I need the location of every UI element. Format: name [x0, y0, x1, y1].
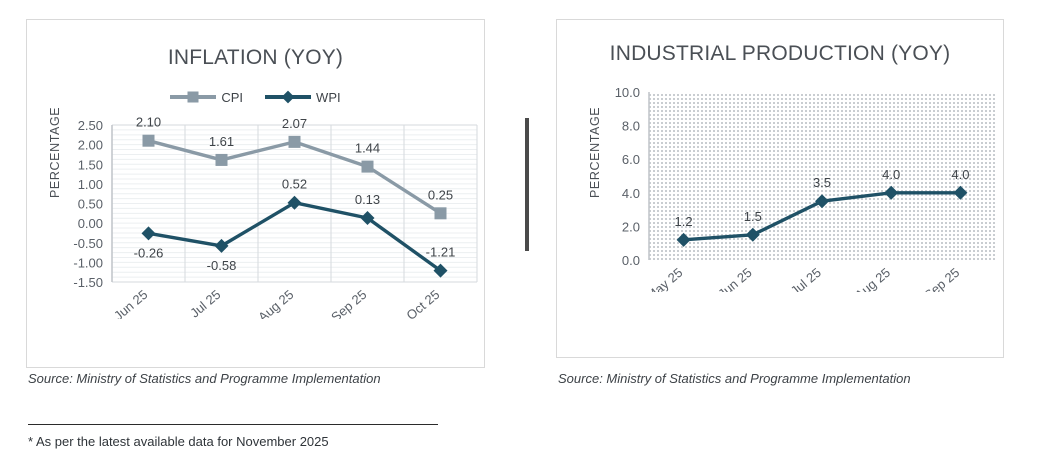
data-label-iip: 3.5: [813, 175, 831, 190]
industrial-production-chart-title: INDUSTRIAL PRODUCTION (YOY): [557, 40, 1003, 68]
data-label-wpi: 0.52: [282, 176, 307, 191]
data-point-cpi[interactable]: [216, 154, 228, 166]
y-tick-label: 0.50: [78, 196, 103, 211]
inflation-source-caption: Source: Ministry of Statistics and Progr…: [28, 371, 381, 386]
x-tick-label: Aug 25: [852, 265, 893, 292]
y-tick-label: 1.00: [78, 177, 103, 192]
industrial-production-plot-area: 10.08.06.04.02.00.0May 25Jun 25Jul 25Aug…: [557, 82, 1003, 292]
y-tick-label: -0.50: [73, 235, 103, 250]
data-label-wpi: -0.26: [134, 245, 164, 260]
data-label-cpi: 0.25: [428, 187, 453, 202]
x-tick-label: Jul 25: [788, 265, 824, 292]
data-point-cpi[interactable]: [435, 207, 447, 219]
data-label-cpi: 2.10: [136, 114, 161, 129]
industrial-production-line-chart: 10.08.06.04.02.00.0May 25Jun 25Jul 25Aug…: [557, 82, 1003, 292]
y-tick-label: 0.00: [78, 216, 103, 231]
data-point-cpi[interactable]: [289, 136, 301, 148]
y-tick-label: 4.0: [622, 186, 640, 201]
footnote-divider: [28, 424, 438, 425]
x-tick-label: Jul 25: [187, 287, 223, 319]
y-tick-label: 8.0: [622, 118, 640, 133]
legend-item-cpi[interactable]: CPI: [170, 90, 243, 105]
inflation-legend: CPI WPI: [27, 90, 484, 105]
y-tick-label: -1.50: [73, 275, 103, 290]
y-tick-label: 1.50: [78, 157, 103, 172]
x-tick-label: Sep 25: [328, 287, 369, 319]
data-label-iip: 4.0: [951, 167, 969, 182]
x-tick-label: Jun 25: [111, 287, 151, 319]
data-label-cpi: 1.61: [209, 134, 234, 149]
data-label-cpi: 2.07: [282, 116, 307, 131]
industrial-production-chart-card: INDUSTRIAL PRODUCTION (YOY) 10.08.06.04.…: [556, 19, 1004, 358]
data-label-wpi: 0.13: [355, 192, 380, 207]
data-point-cpi[interactable]: [143, 134, 155, 146]
legend-swatch-cpi-icon: [170, 91, 216, 103]
inflation-plot-area: 2.502.001.501.000.500.00-0.50-1.00-1.50J…: [27, 111, 484, 319]
inflation-chart-card: INFLATION (YOY) CPI WPI 2.502.001.501.00…: [26, 19, 485, 368]
legend-swatch-wpi-icon: [265, 91, 311, 103]
industrial-production-y-axis-title: PERCENTAGE: [588, 107, 602, 198]
x-tick-label: May 25: [643, 265, 685, 292]
y-tick-label: 10.0: [615, 85, 640, 100]
section-divider: [525, 118, 529, 251]
inflation-line-chart: 2.502.001.501.000.500.00-0.50-1.00-1.50J…: [27, 111, 484, 319]
inflation-chart-title: INFLATION (YOY): [27, 44, 484, 72]
y-tick-label: 2.00: [78, 137, 103, 152]
y-tick-label: -1.00: [73, 255, 103, 270]
inflation-y-axis-title: PERCENTAGE: [48, 107, 62, 198]
footnote-text: * As per the latest available data for N…: [28, 434, 329, 449]
y-tick-label: 2.0: [622, 219, 640, 234]
data-point-wpi[interactable]: [215, 239, 229, 253]
y-tick-label: 0.0: [622, 253, 640, 268]
industrial-production-source-caption: Source: Ministry of Statistics and Progr…: [558, 371, 911, 386]
legend-label-cpi: CPI: [221, 90, 243, 105]
data-label-wpi: -0.58: [207, 258, 237, 273]
legend-item-wpi[interactable]: WPI: [265, 90, 341, 105]
data-point-cpi[interactable]: [362, 160, 374, 172]
y-tick-label: 6.0: [622, 152, 640, 167]
data-label-iip: 1.5: [744, 209, 762, 224]
y-tick-label: 2.50: [78, 118, 103, 133]
x-tick-label: Aug 25: [255, 287, 296, 319]
data-label-wpi: -1.21: [426, 244, 456, 259]
data-label-iip: 1.2: [675, 214, 693, 229]
x-tick-label: Oct 25: [403, 287, 442, 319]
x-tick-label: Jun 25: [715, 265, 755, 292]
data-label-iip: 4.0: [882, 167, 900, 182]
legend-label-wpi: WPI: [316, 90, 341, 105]
data-label-cpi: 1.44: [355, 140, 380, 155]
data-point-wpi[interactable]: [288, 195, 302, 209]
x-tick-label: Sep 25: [921, 265, 962, 292]
